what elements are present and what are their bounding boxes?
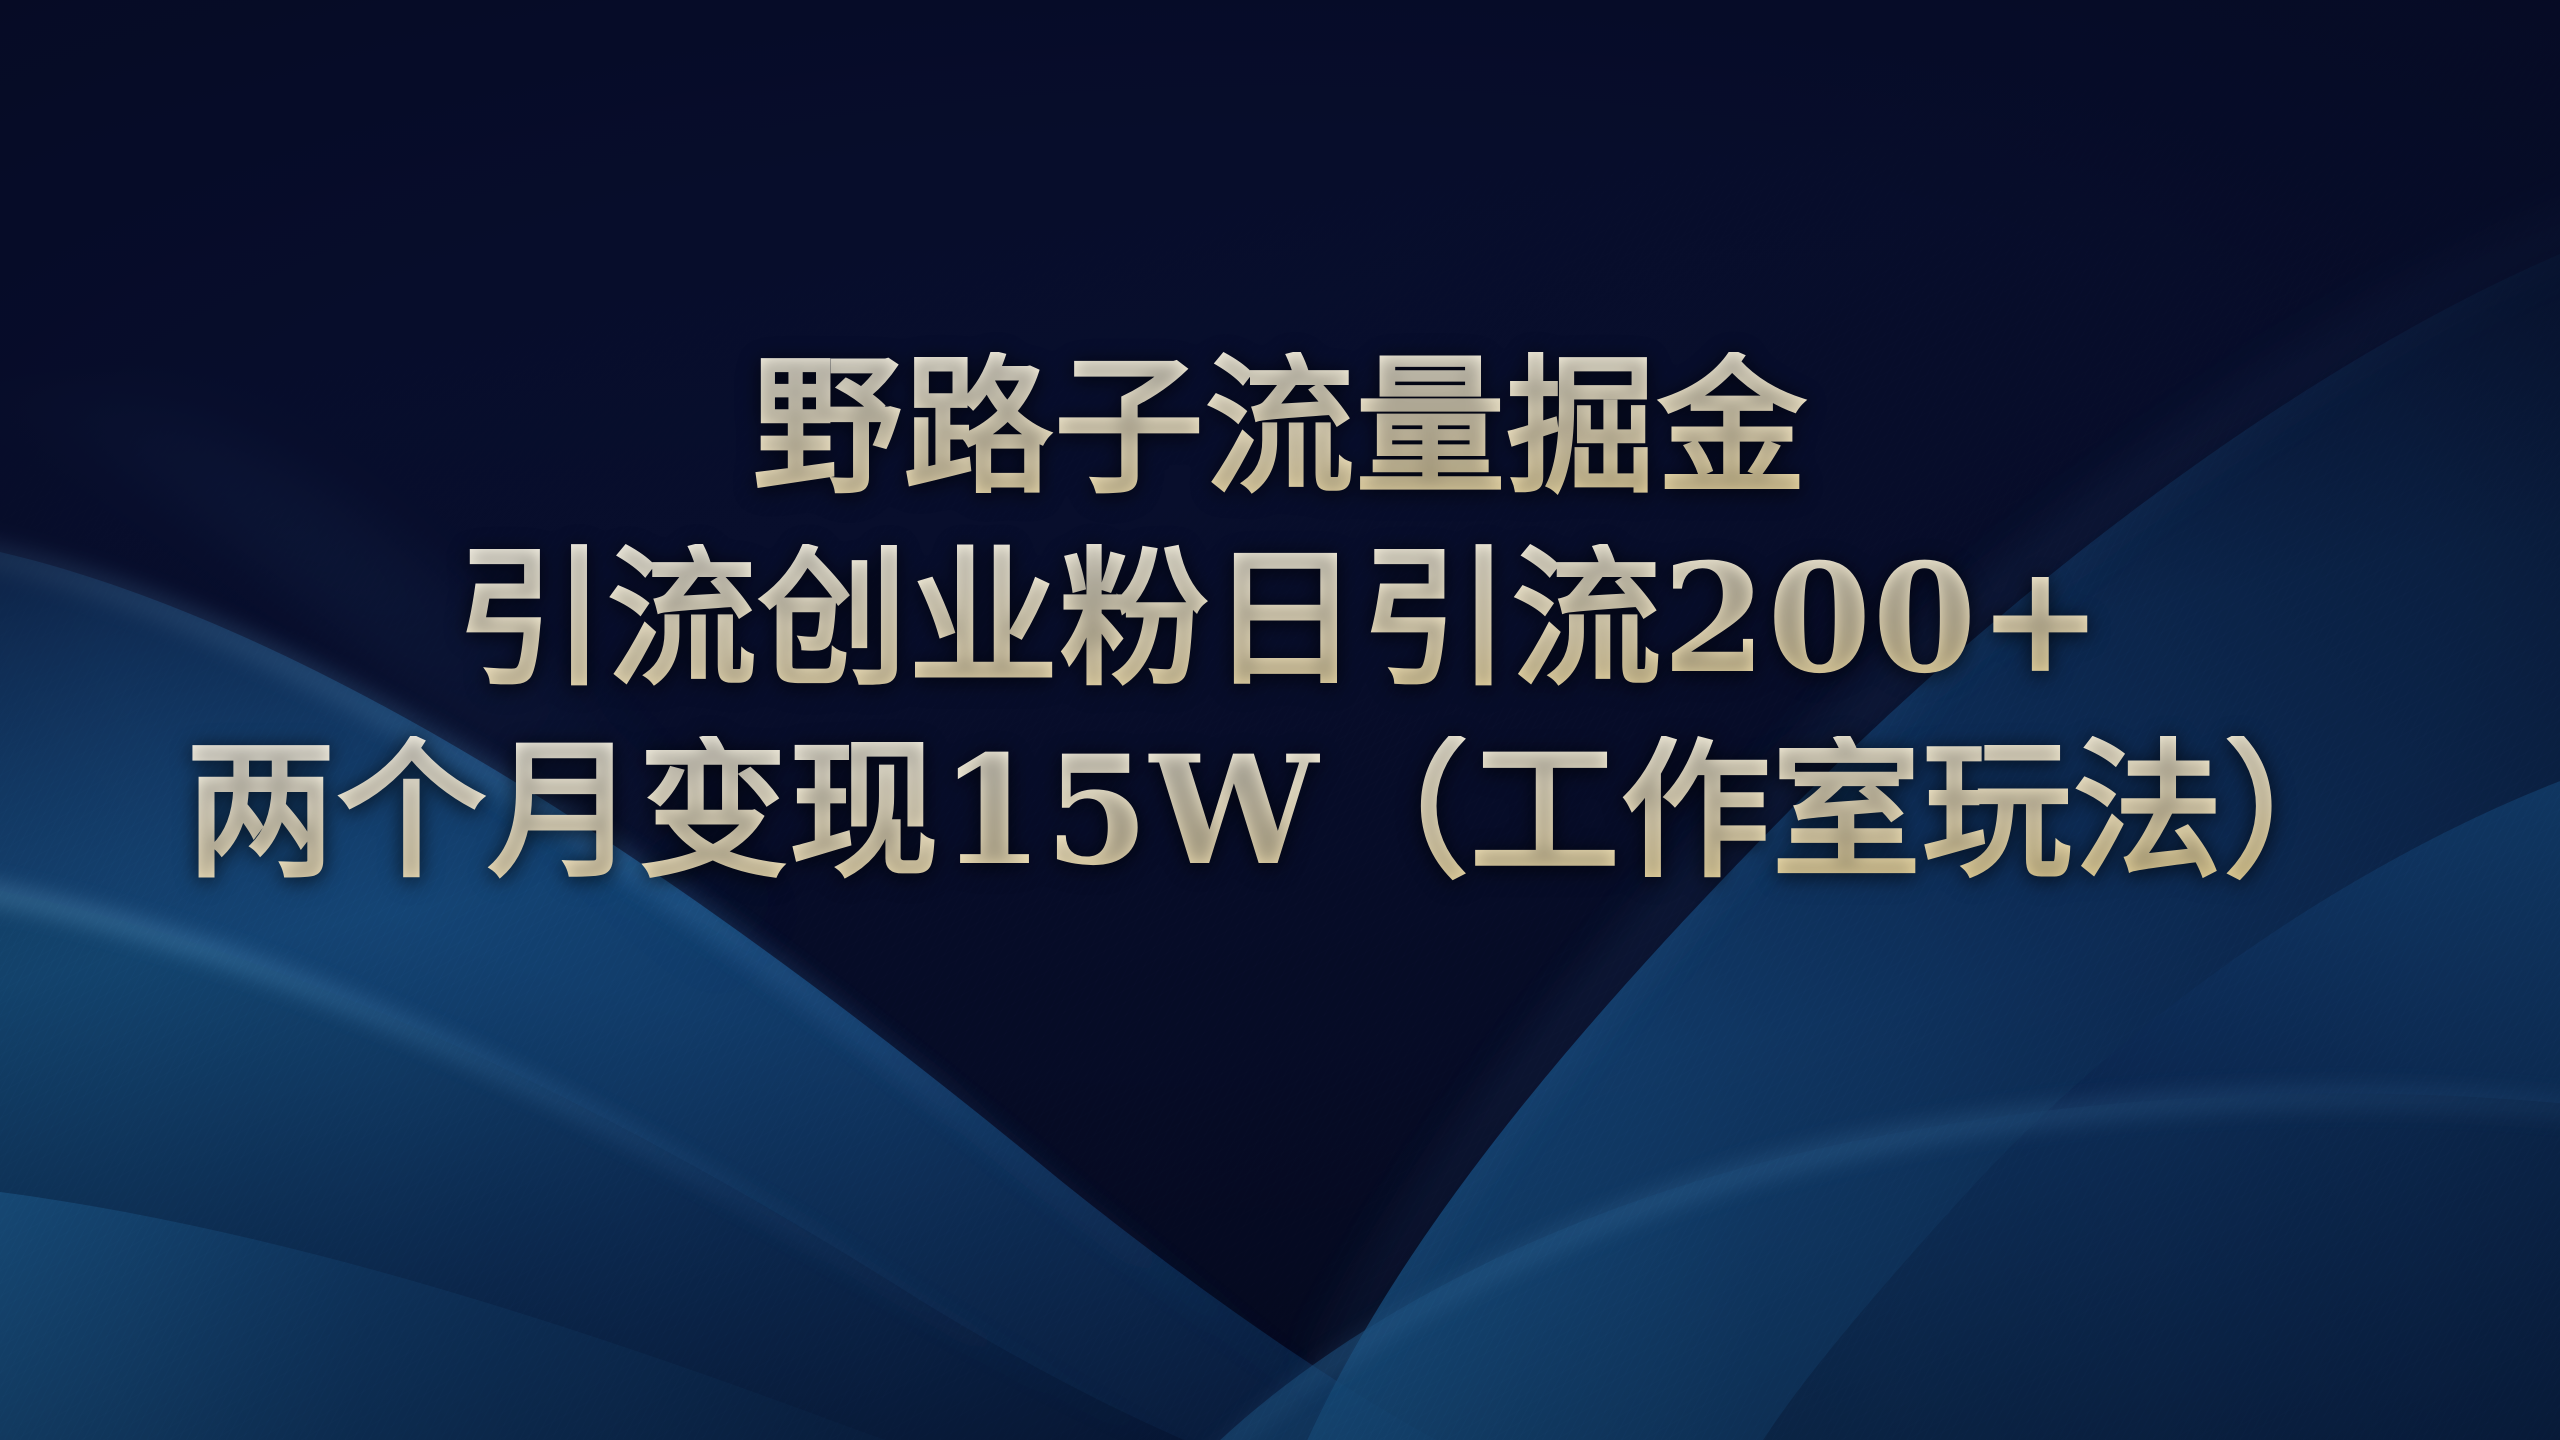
headline-line-2: 引流创业粉日引流200+: [0, 544, 2560, 694]
headline-line-1: 野路子流量掘金: [0, 352, 2560, 502]
headline-line-3: 两个月变现15W（工作室玩法）: [0, 736, 2560, 886]
banner-canvas: 野路子流量掘金 引流创业粉日引流200+ 两个月变现15W（工作室玩法）: [0, 0, 2560, 1440]
headline-block: 野路子流量掘金 引流创业粉日引流200+ 两个月变现15W（工作室玩法）: [0, 352, 2560, 886]
